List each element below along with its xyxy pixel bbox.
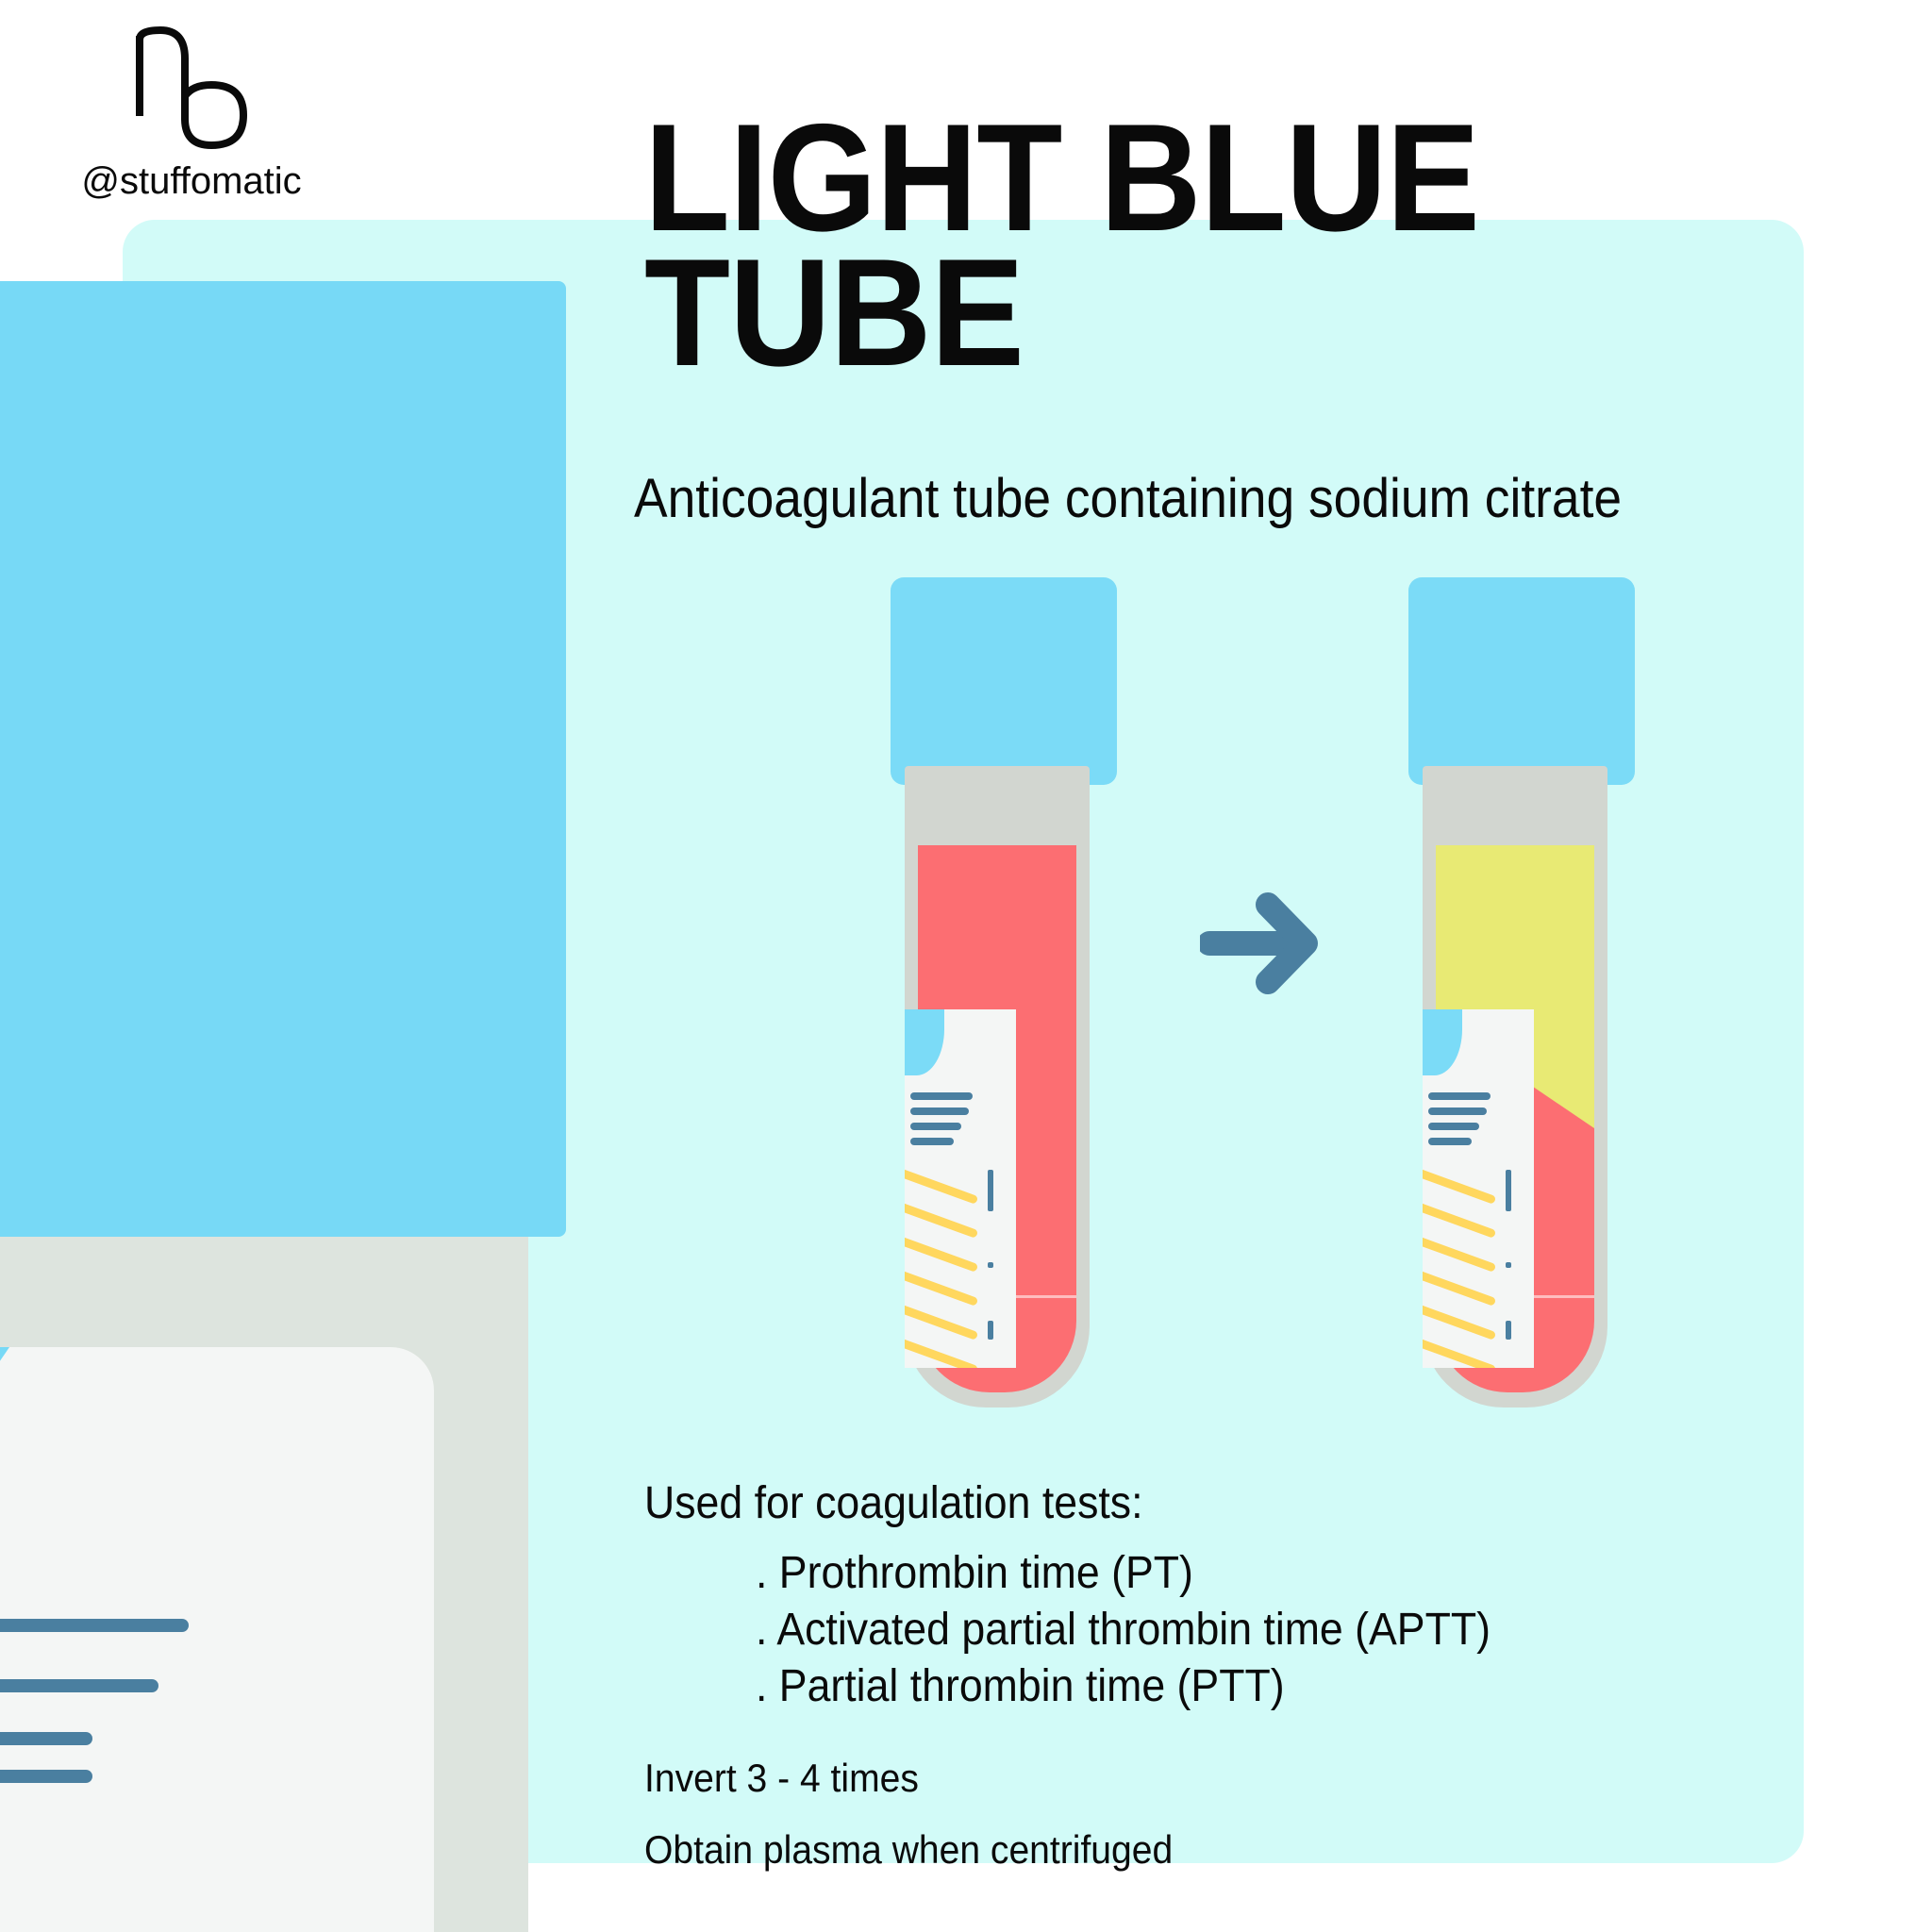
label-stripe: [1423, 1202, 1496, 1239]
label-text-line: [1428, 1108, 1487, 1115]
label-stripe: [905, 1168, 978, 1205]
list-item: . Prothrombin time (PT): [756, 1545, 1491, 1602]
label-tick-mark: [1506, 1262, 1511, 1268]
page-subtitle: Anticoagulant tube containing sodium cit…: [634, 467, 1622, 530]
label-stripe: [1423, 1338, 1496, 1368]
nb-monogram-icon: [111, 17, 272, 158]
brand-handle: @stuffomatic: [55, 160, 328, 203]
tube-cap-icon: [891, 577, 1117, 785]
label-stripe: [905, 1338, 978, 1368]
label-tick-mark: [988, 1321, 993, 1340]
document-text-line: [0, 1732, 92, 1745]
label-stripe: [905, 1304, 978, 1341]
tube-body: [905, 766, 1090, 1407]
label-stripe: [1423, 1168, 1496, 1205]
note-invert: Invert 3 - 4 times: [644, 1754, 1483, 1804]
tube-body: [1423, 766, 1607, 1407]
uses-heading: Used for coagulation tests:: [644, 1476, 1483, 1532]
tube-cap-icon: [1408, 577, 1635, 785]
label-swoosh-icon: [1423, 1009, 1462, 1075]
label-stripe: [1423, 1304, 1496, 1341]
label-text-line: [910, 1123, 961, 1130]
decorative-document-card: [0, 1347, 434, 1932]
brand-logo: @stuffomatic: [55, 17, 328, 203]
document-text-line: [0, 1770, 92, 1783]
label-stripe: [1423, 1270, 1496, 1307]
tube-label: [1423, 1009, 1534, 1368]
page-title: LIGHT BLUE TUBE: [644, 111, 1701, 380]
label-text-line: [1428, 1138, 1472, 1145]
tube-label: [905, 1009, 1016, 1368]
body-copy: Used for coagulation tests: . Prothrombi…: [644, 1476, 1546, 1875]
label-tick-mark: [1506, 1170, 1511, 1211]
label-stripe: [905, 1202, 978, 1239]
document-corner-fold-icon: [0, 1347, 9, 1526]
list-item: . Activated partial thrombin time (APTT): [756, 1602, 1491, 1658]
tests-list: . Prothrombin time (PT) . Activated part…: [644, 1545, 1546, 1716]
decorative-blue-block: [0, 281, 566, 1237]
label-tick-mark: [1506, 1321, 1511, 1340]
centrifuged-tube: [1400, 577, 1636, 1407]
document-text-line: [0, 1619, 189, 1632]
label-text-line: [910, 1138, 954, 1145]
label-tick-mark: [988, 1170, 993, 1211]
label-stripe: [905, 1236, 978, 1273]
list-item: . Partial thrombin time (PTT): [756, 1658, 1491, 1715]
label-swoosh-icon: [905, 1009, 944, 1075]
label-text-line: [1428, 1123, 1479, 1130]
note-plasma: Obtain plasma when centrifuged: [644, 1825, 1483, 1875]
whole-blood-tube: [882, 577, 1118, 1407]
title-line-1: LIGHT BLUE: [644, 111, 1616, 246]
document-text-line: [0, 1679, 158, 1692]
label-text-line: [910, 1108, 969, 1115]
label-stripe: [905, 1270, 978, 1307]
label-text-line: [910, 1092, 973, 1100]
label-tick-mark: [988, 1262, 993, 1268]
title-line-2: TUBE: [644, 246, 1616, 381]
label-stripe: [1423, 1236, 1496, 1273]
infographic-root: @stuffomatic LIGHT BLUE TUBE Anticoagula…: [0, 0, 1932, 1932]
right-arrow-icon: [1200, 891, 1323, 995]
label-text-line: [1428, 1092, 1491, 1100]
